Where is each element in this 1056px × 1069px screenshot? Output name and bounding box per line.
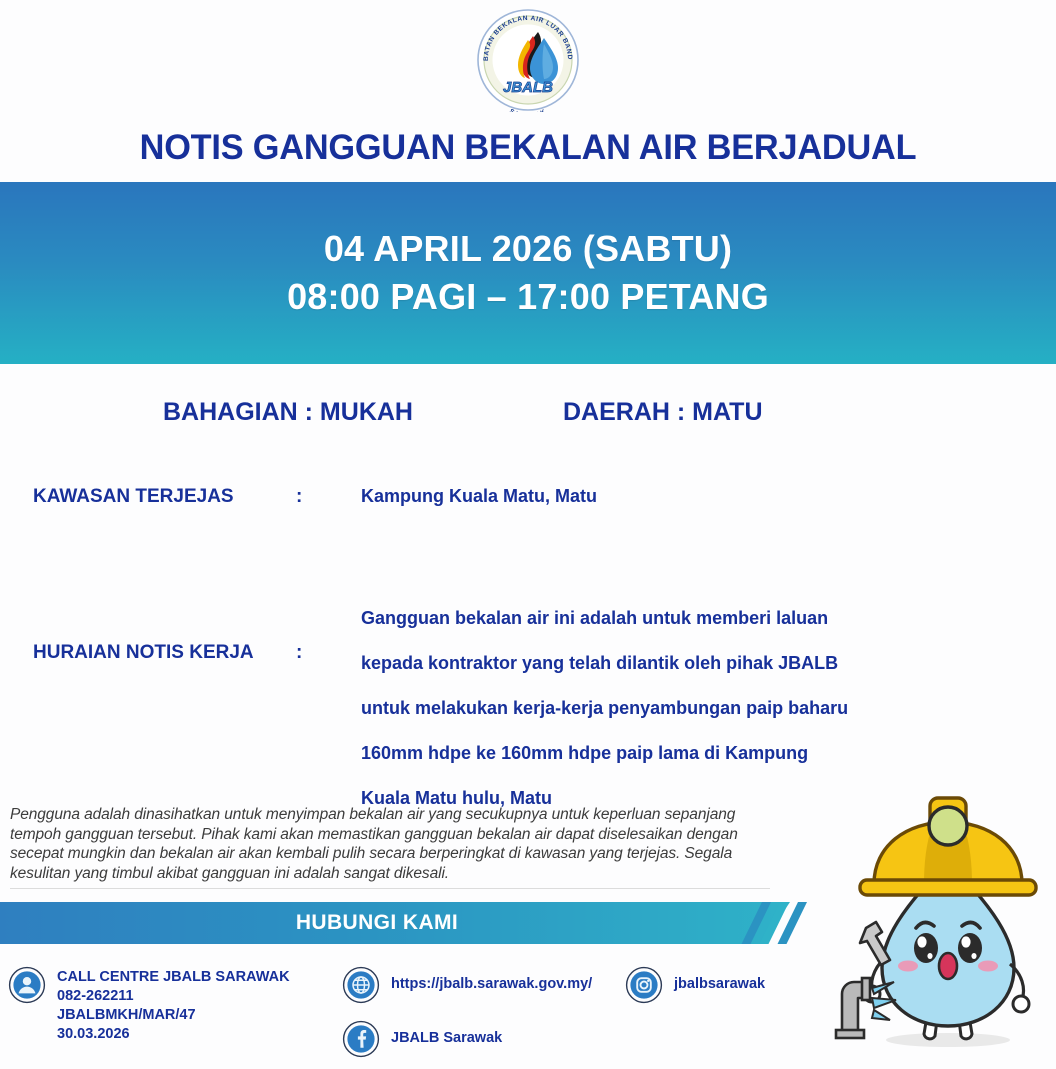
affected-area-label: KAWASAN TERJEJAS: [33, 486, 234, 508]
water-drop-mascot: [820, 788, 1056, 1069]
call-centre-contact: CALL CENTRE JBALB SARAWAK 082-262211 JBA…: [8, 966, 290, 1044]
date-banner: 04 APRIL 2026 (SABTU) 08:00 PAGI – 17:00…: [0, 182, 1056, 364]
district-label: DAERAH : MATU: [563, 398, 763, 427]
contact-bar-label: HUBUNGI KAMI: [296, 911, 458, 935]
affected-area-colon: :: [296, 486, 302, 508]
instagram-contact[interactable]: jbalbsarawak: [625, 966, 765, 1004]
disruption-time: 08:00 PAGI – 17:00 PETANG: [287, 276, 769, 318]
decorative-stripes: [756, 902, 826, 944]
instagram-handle[interactable]: jbalbsarawak: [674, 966, 765, 994]
work-description-row: HURAIAN NOTIS KERJA : Gangguan bekalan a…: [0, 596, 1056, 796]
notice-date: 30.03.2026: [57, 1025, 290, 1044]
contact-bar: HUBUNGI KAMI: [0, 902, 790, 944]
affected-area-row: KAWASAN TERJEJAS : Kampung Kuala Matu, M…: [0, 486, 1056, 526]
instagram-icon: [625, 966, 663, 1004]
call-centre-title: CALL CENTRE JBALB SARAWAK: [57, 968, 290, 987]
disruption-date: 04 APRIL 2026 (SABTU): [324, 228, 732, 270]
jbalb-logo: JABATAN BEKALAN AIR LUAR BANDAR SARAWAK …: [476, 8, 580, 112]
work-description-label: HURAIAN NOTIS KERJA: [33, 642, 254, 664]
leaking-pipe: [836, 978, 896, 1038]
facebook-handle[interactable]: JBALB Sarawak: [391, 1020, 502, 1048]
call-centre-text: CALL CENTRE JBALB SARAWAK 082-262211 JBA…: [57, 966, 290, 1044]
website-url[interactable]: https://jbalb.sarawak.gov.my/: [391, 966, 592, 994]
svg-text:JBALB: JBALB: [503, 79, 553, 96]
work-description-value: Gangguan bekalan air ini adalah untuk me…: [361, 596, 848, 821]
globe-icon: [342, 966, 380, 1004]
logo-container: JABATAN BEKALAN AIR LUAR BANDAR SARAWAK …: [0, 8, 1056, 112]
page-title: NOTIS GANGGUAN BEKALAN AIR BERJADUAL: [11, 128, 1046, 168]
advisory-divider: [10, 888, 770, 889]
facebook-contact[interactable]: JBALB Sarawak: [342, 1020, 502, 1058]
region-row: BAHAGIAN : MUKAH DAERAH : MATU: [0, 398, 1056, 434]
call-centre-phone: 082-262211: [57, 987, 290, 1006]
work-description-line: Gangguan bekalan air ini adalah untuk me…: [361, 596, 848, 641]
work-description-line: kepada kontraktor yang telah dilantik ol…: [361, 641, 848, 686]
person-icon: [8, 966, 46, 1004]
work-description-line: untuk melakukan kerja-kerja penyambungan…: [361, 686, 848, 731]
division-label: BAHAGIAN : MUKAH: [163, 398, 413, 427]
notice-page: JABATAN BEKALAN AIR LUAR BANDAR SARAWAK …: [0, 0, 1056, 1069]
facebook-icon: [342, 1020, 380, 1058]
work-description-line: 160mm hdpe ke 160mm hdpe paip lama di Ka…: [361, 731, 848, 776]
website-contact[interactable]: https://jbalb.sarawak.gov.my/: [342, 966, 592, 1004]
work-description-colon: :: [296, 642, 302, 664]
affected-area-value: Kampung Kuala Matu, Matu: [361, 486, 597, 507]
advisory-text: Pengguna adalah dinasihatkan untuk menyi…: [10, 805, 770, 883]
notice-reference: JBALBMKH/MAR/47: [57, 1006, 290, 1025]
